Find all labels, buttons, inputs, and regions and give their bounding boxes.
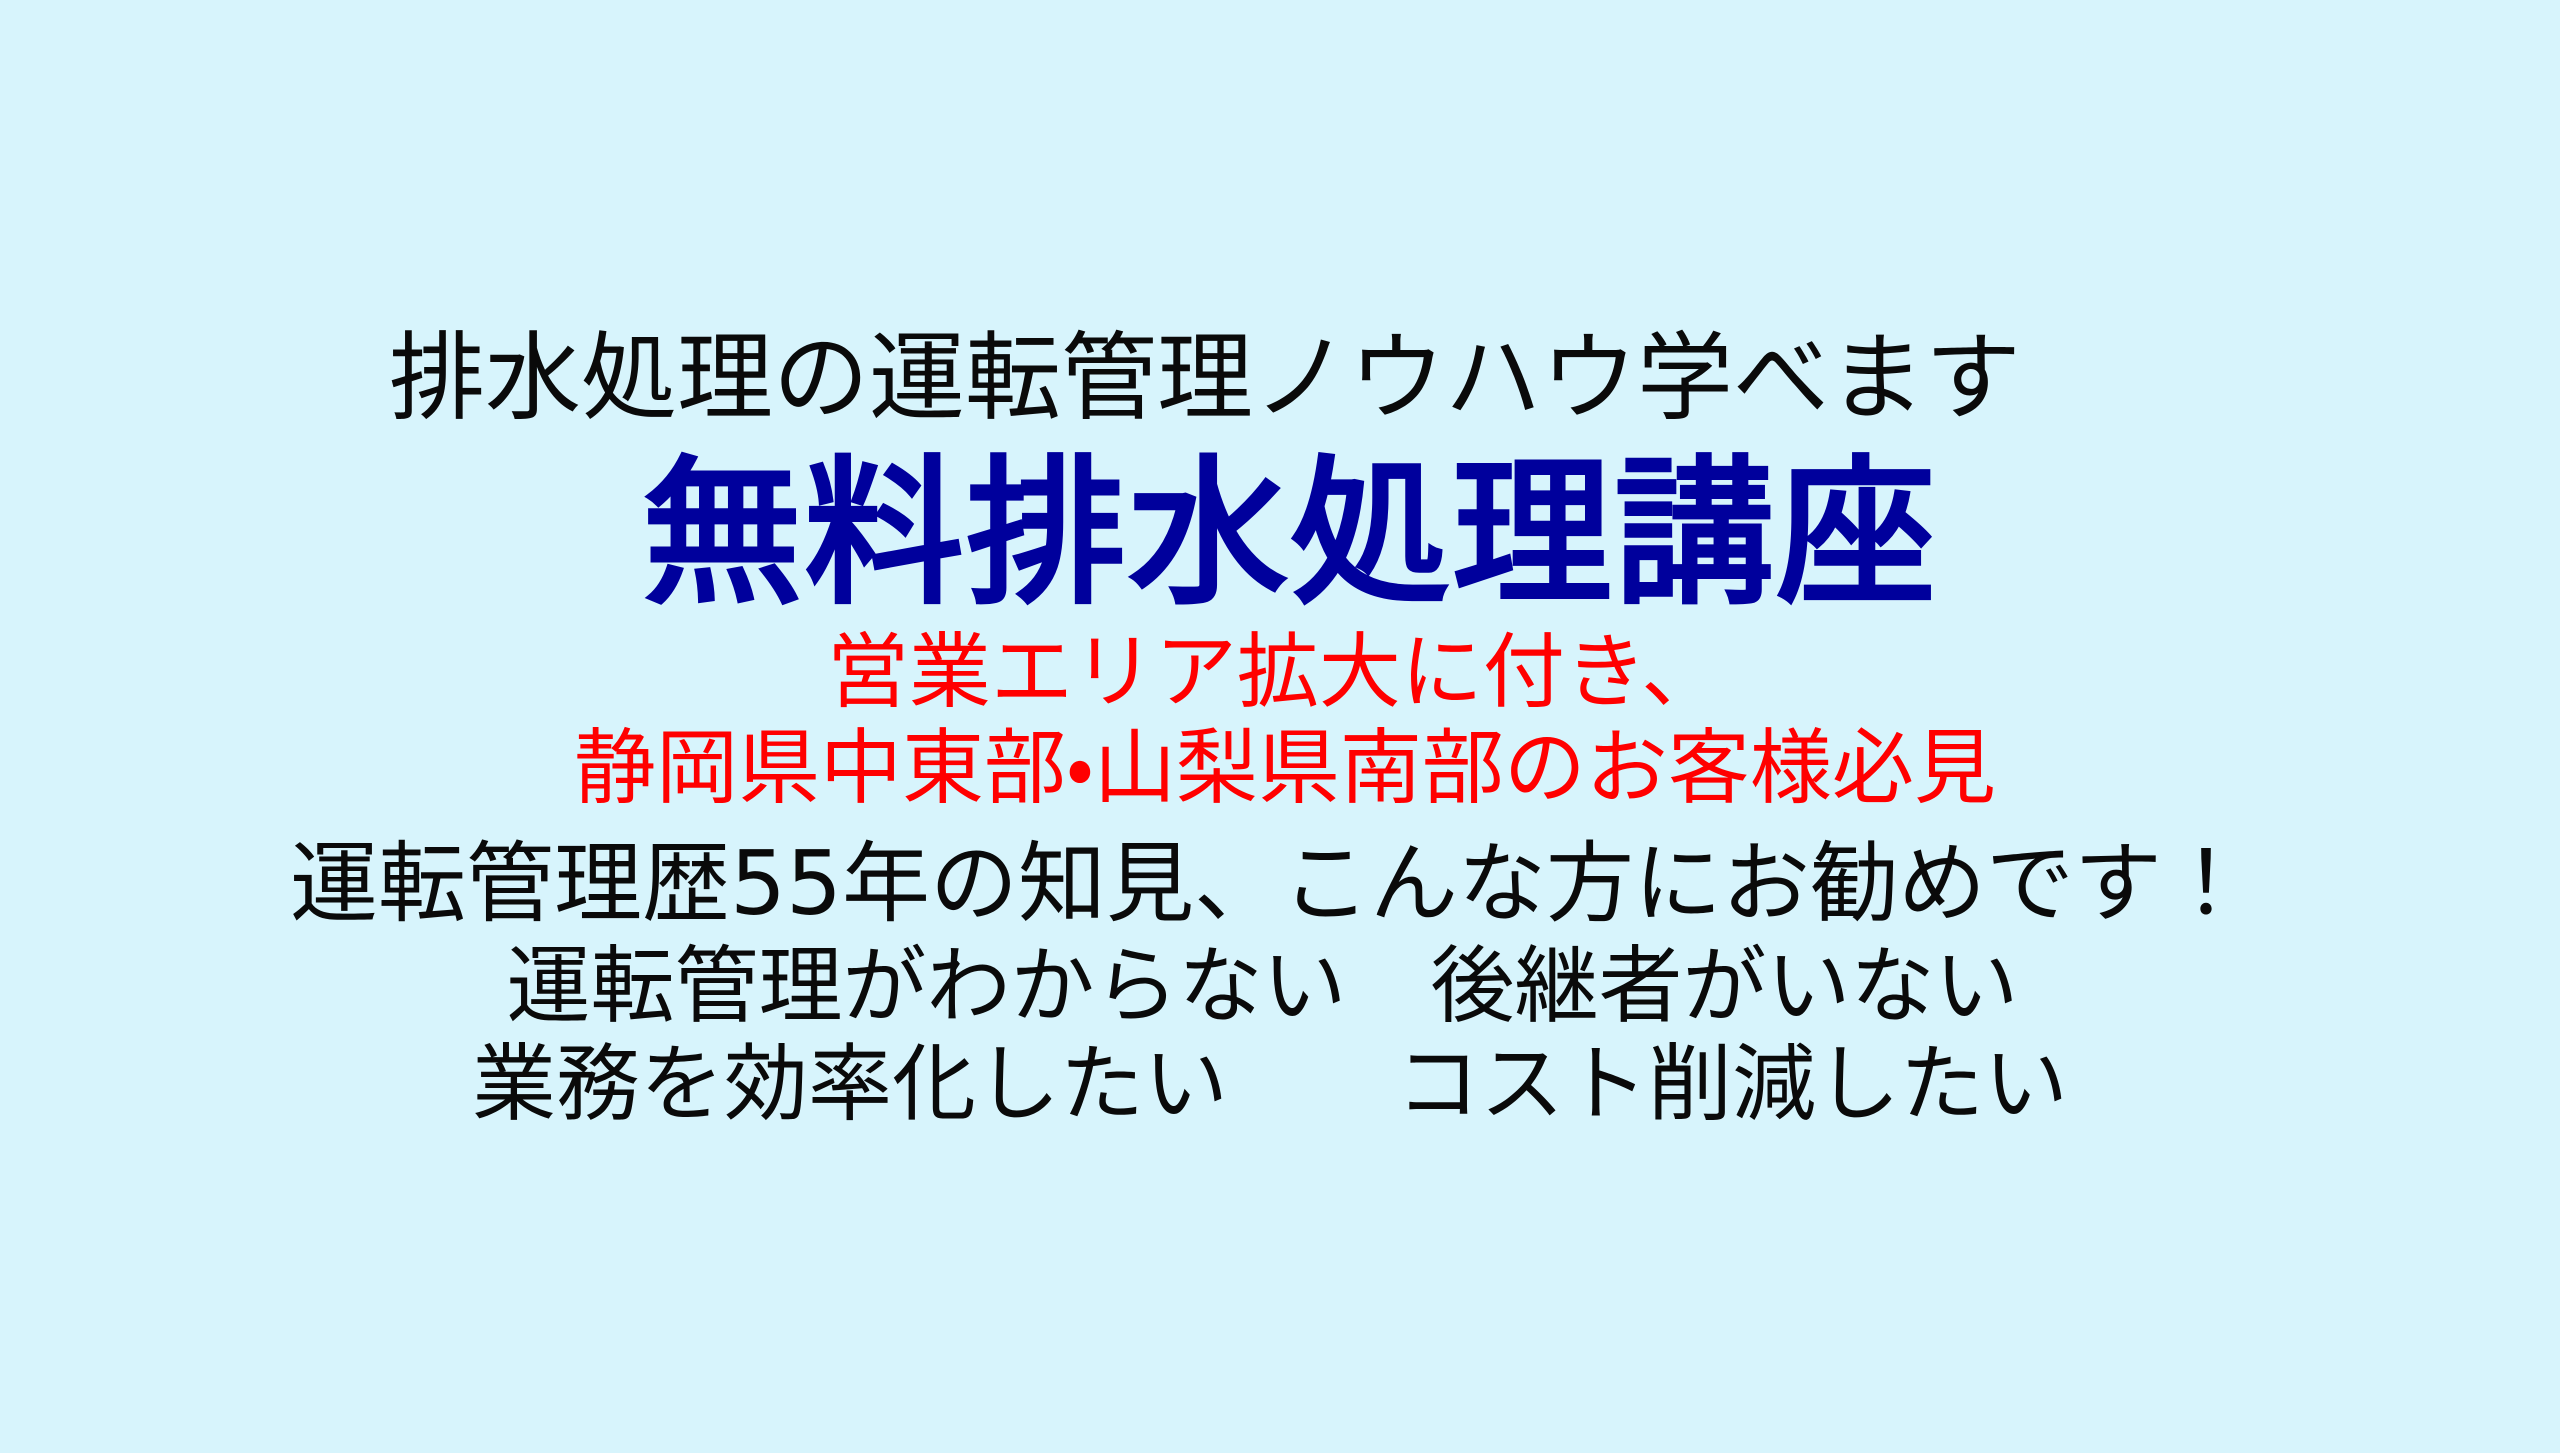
body-line-2: 運転管理がわからない 後継者がいない [506, 944, 2018, 1028]
body-line-3: 業務を効率化したい コスト削減したい [472, 1042, 2068, 1126]
headline-kicker: 排水処理の運転管理ノウハウ学べます [389, 330, 2021, 426]
page-title: 無料排水処理講座 [642, 454, 1938, 614]
body-line-1: 運転管理歴55年の知見、こんな方にお勧めです！ [290, 840, 2250, 928]
promo-slide: 排水処理の運転管理ノウハウ学べます 無料排水処理講座 営業エリア拡大に付き、 静… [0, 0, 2560, 1453]
red-notice-line-1: 営業エリア拡大に付き、 [827, 632, 1723, 714]
slide-content-stack: 排水処理の運転管理ノウハウ学べます 無料排水処理講座 営業エリア拡大に付き、 静… [0, 0, 2560, 1453]
red-notice-line-2: 静岡県中東部・山梨県南部のお客様必見 [574, 728, 1996, 810]
